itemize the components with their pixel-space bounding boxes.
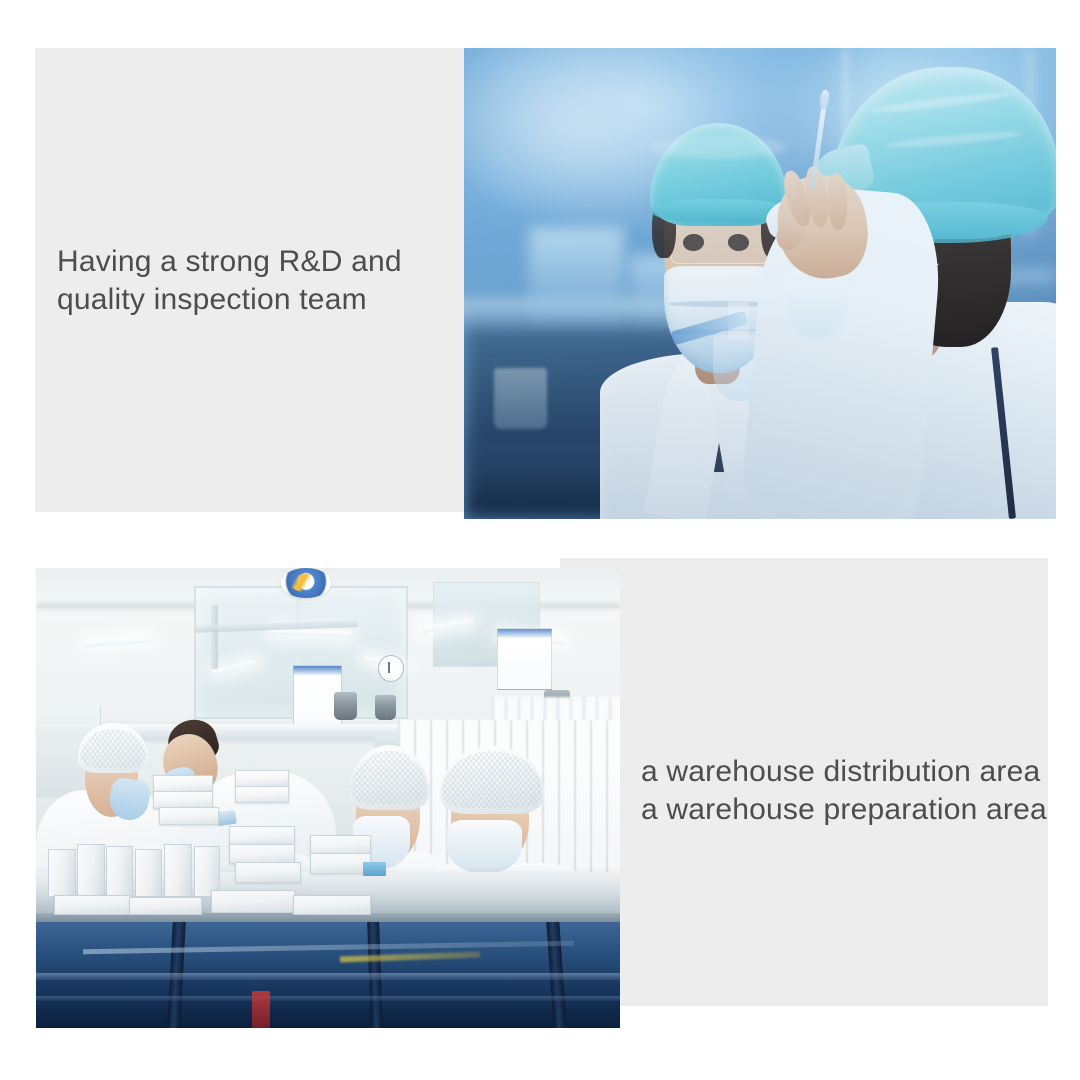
lab-inspection-photo — [464, 48, 1056, 519]
rnd-quality-caption: Having a strong R&D and quality inspecti… — [57, 243, 477, 319]
warehouse-packing-photo — [36, 568, 620, 1028]
warehouse-caption: a warehouse distribution area a warehous… — [641, 753, 1061, 829]
page-root: Having a strong R&D and quality inspecti… — [0, 0, 1080, 1080]
